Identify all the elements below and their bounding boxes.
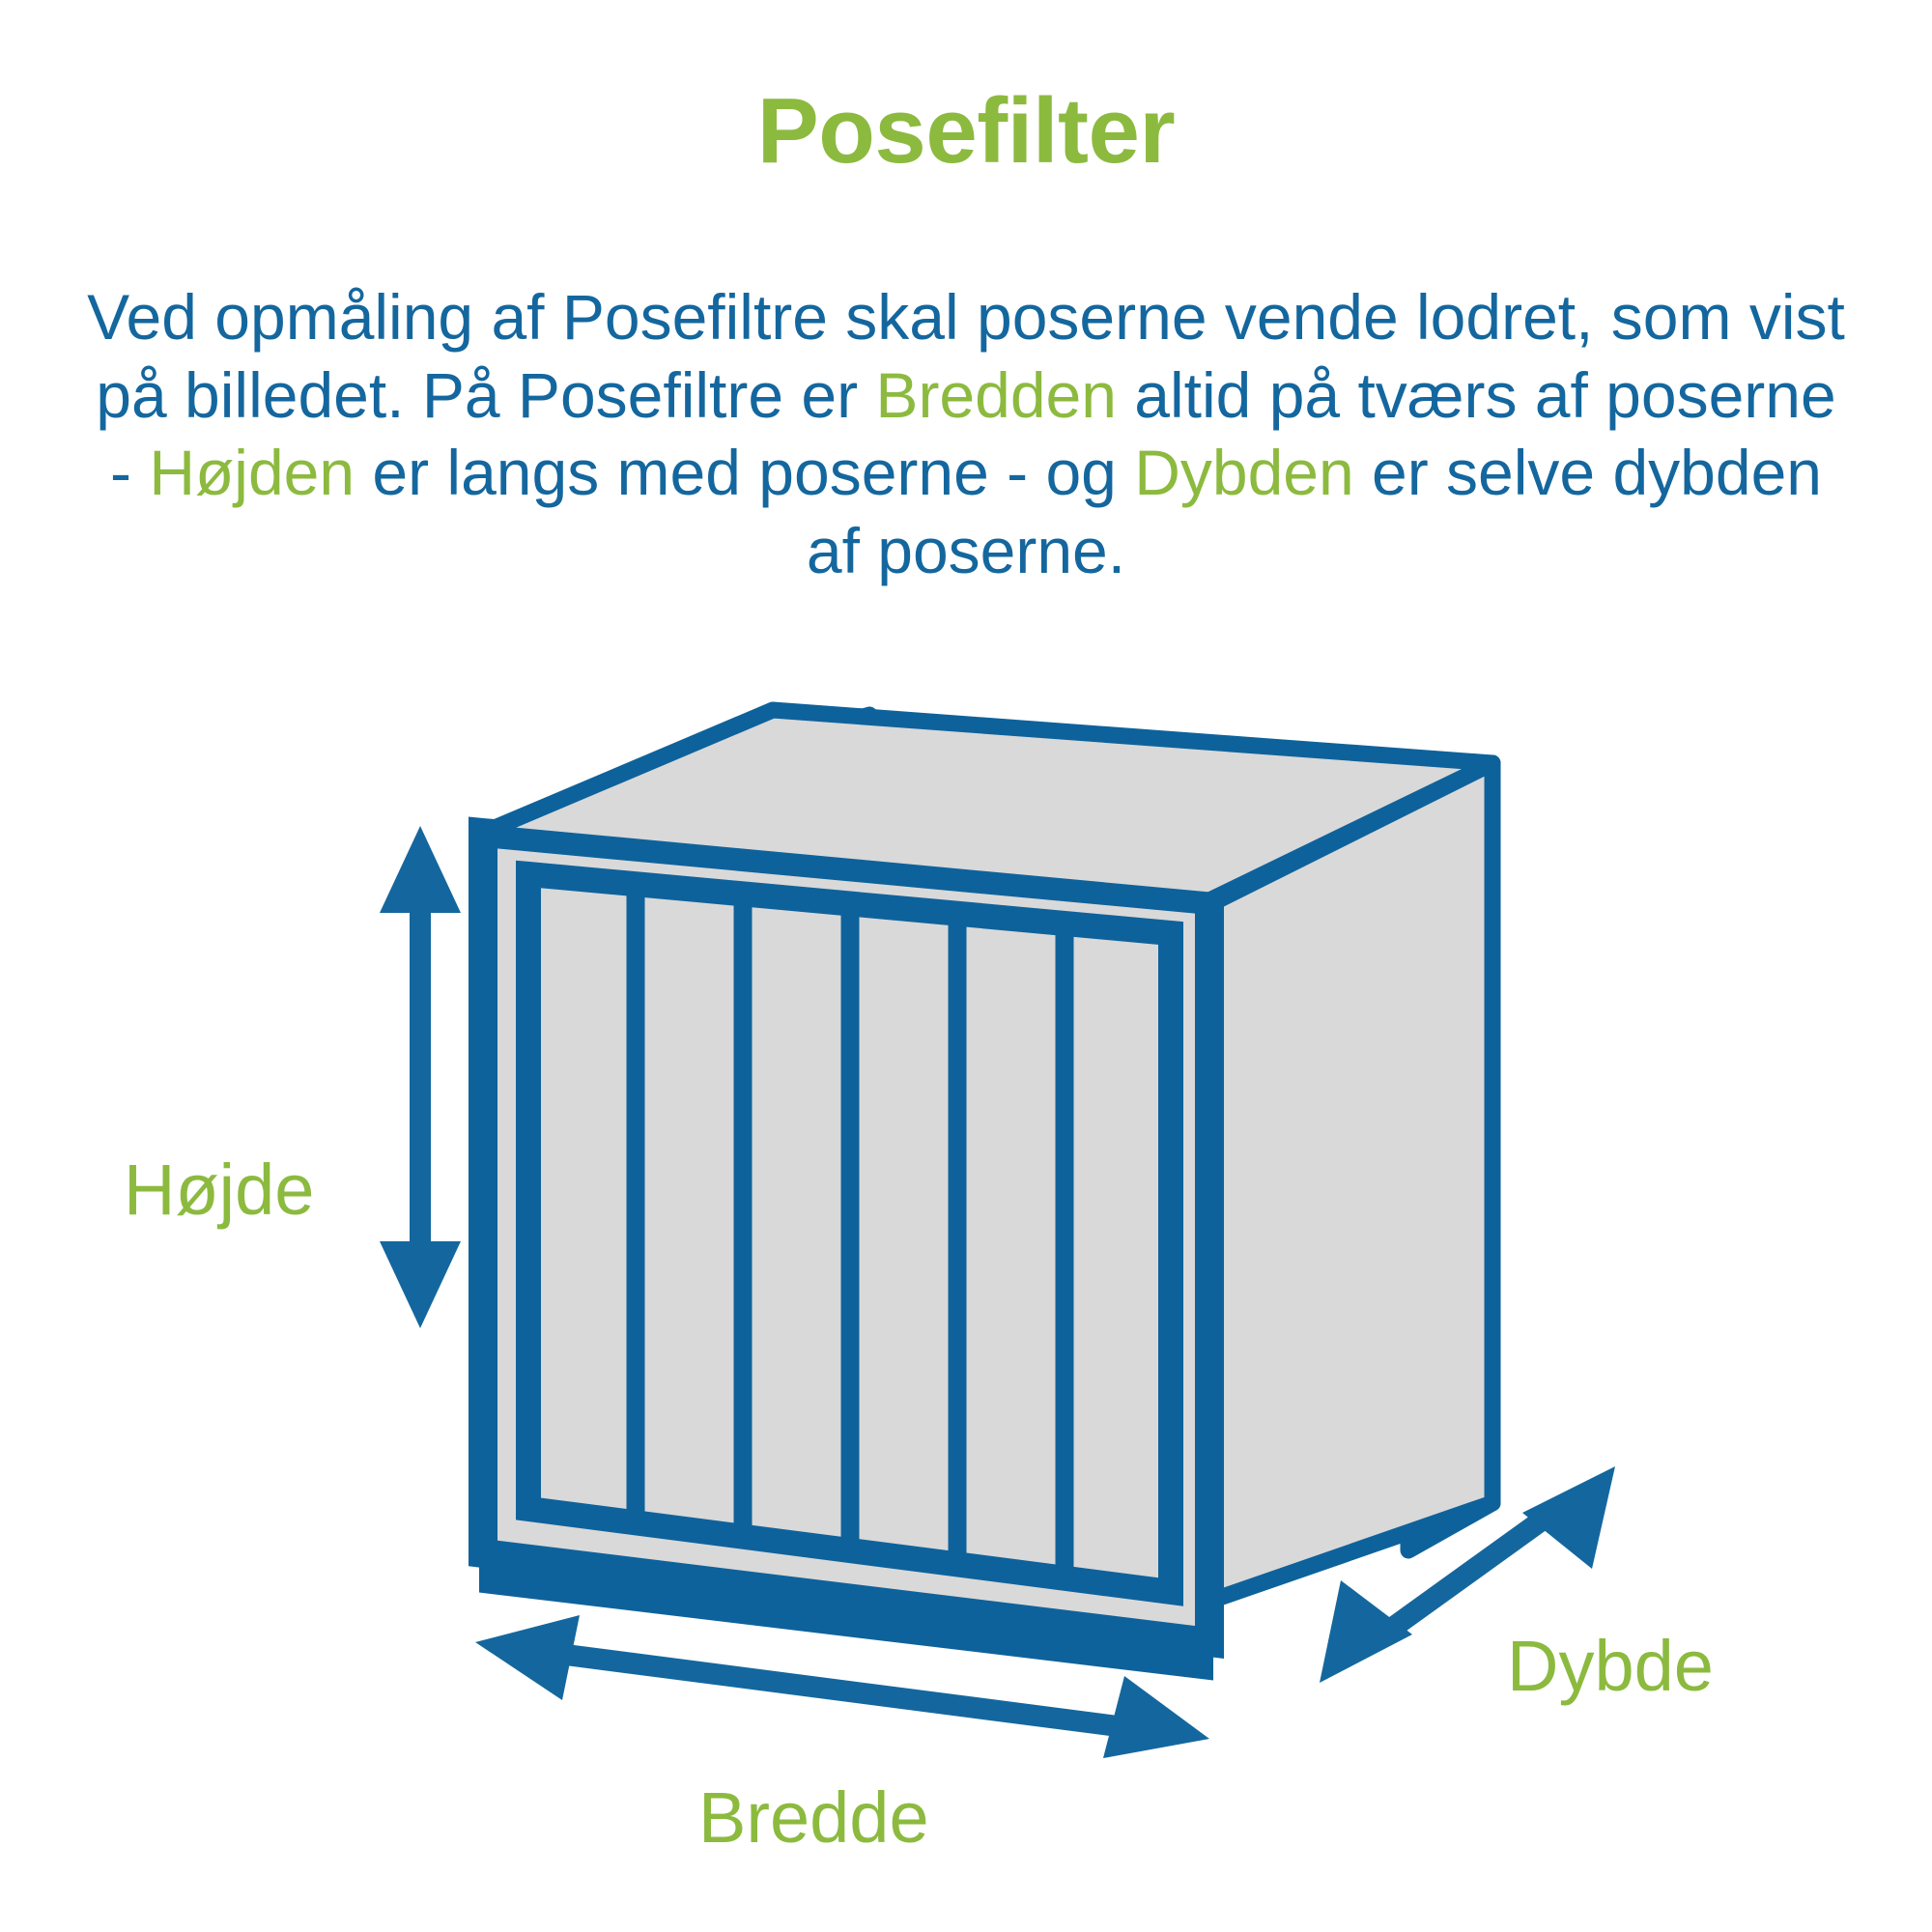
height-dimension-label: Højde: [124, 1154, 314, 1226]
poster-page: Posefilter Ved opmåling af Posefiltre sk…: [0, 0, 1932, 1932]
height-arrow: [380, 826, 461, 1328]
depth-dimension-label: Dybde: [1507, 1631, 1714, 1702]
width-dimension-label: Bredde: [698, 1782, 929, 1854]
